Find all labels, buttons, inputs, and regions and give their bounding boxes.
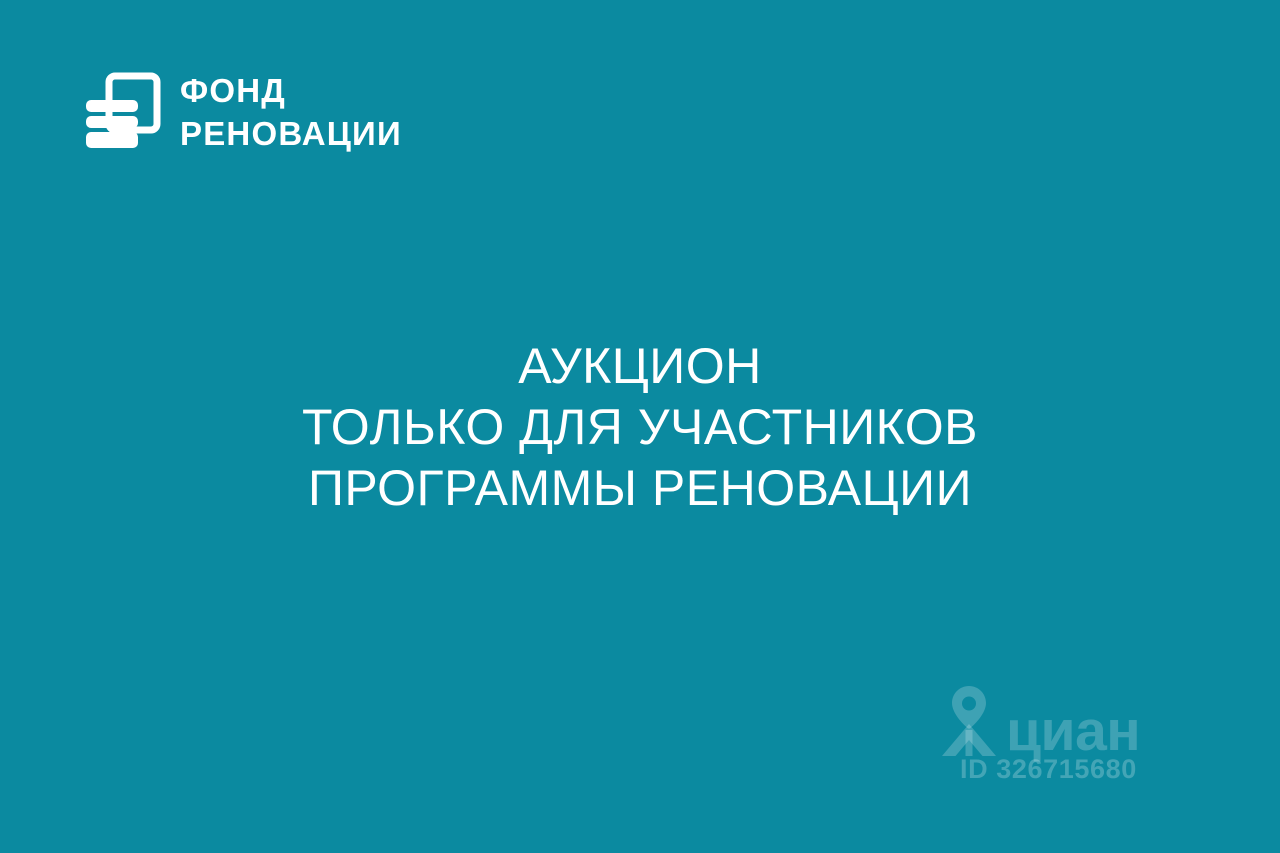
renovation-auction-banner: ФОНД РЕНОВАЦИИ АУКЦИОН ТОЛЬКО ДЛЯ УЧАСТН…	[0, 0, 1280, 853]
brand-line-1: ФОНД	[180, 74, 402, 107]
brand-wordmark: ФОНД РЕНОВАЦИИ	[180, 74, 402, 150]
brand-line-2: РЕНОВАЦИИ	[180, 117, 402, 150]
cian-watermark: циан ID 326715680	[938, 684, 1178, 794]
headline-line-2: ТОЛЬКО ДЛЯ УЧАСТНИКОВ	[0, 397, 1280, 458]
cian-map-pin-house-icon	[938, 684, 1000, 756]
cian-logo: циан	[938, 684, 1140, 756]
cian-wordmark: циан	[1006, 703, 1140, 760]
headline-line-1: АУКЦИОН	[0, 336, 1280, 397]
headline-block: АУКЦИОН ТОЛЬКО ДЛЯ УЧАСТНИКОВ ПРОГРАММЫ …	[0, 336, 1280, 519]
fond-renovatsii-buildings-icon	[84, 72, 162, 152]
brand-logo: ФОНД РЕНОВАЦИИ	[84, 72, 402, 152]
listing-id-label: ID 326715680	[960, 754, 1137, 785]
headline-line-3: ПРОГРАММЫ РЕНОВАЦИИ	[0, 458, 1280, 519]
